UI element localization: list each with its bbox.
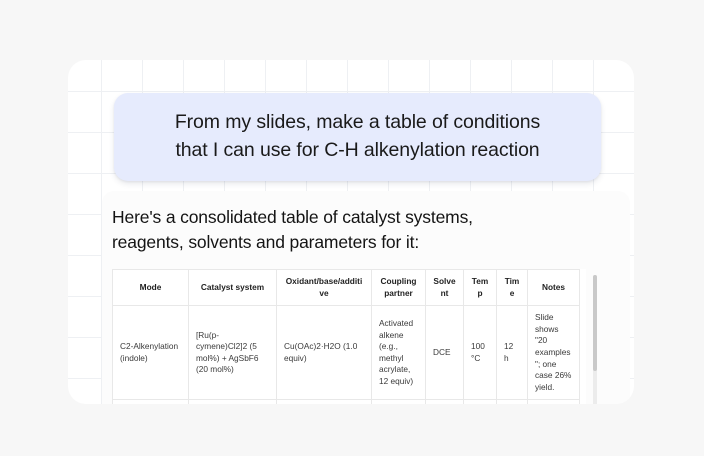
cell-time: 12 h <box>497 400 528 404</box>
cell-solvent: Et2O <box>426 400 464 404</box>
canvas-card: From my slides, make a table of conditio… <box>68 60 634 404</box>
screen: From my slides, make a table of conditio… <box>0 0 704 456</box>
table-header-oxidant: Oxidant/base/additive <box>277 270 372 306</box>
assistant-heading-line-1: Here's a consolidated table of catalyst … <box>112 205 622 230</box>
table-scrollbar-track[interactable] <box>593 275 597 404</box>
conditions-table: Mode Catalyst system Oxidant/base/additi… <box>112 269 580 404</box>
cell-catalyst: MnBr(CO)5 (10 <box>189 400 277 404</box>
cell-time: 12 h <box>497 306 528 400</box>
assistant-heading-line-2: reagents, solvents and parameters for it… <box>112 230 622 255</box>
table-row: C2-Alkenylation (indole) [Ru(p-cymene)Cl… <box>113 306 580 400</box>
cell-temp: 100 °C <box>464 306 497 400</box>
cell-catalyst: [Ru(p-cymene)Cl2]2 (5 mol%) + AgSbF6 (20… <box>189 306 277 400</box>
table-scrollbar-thumb[interactable] <box>593 275 597 371</box>
cell-partner: Propargyl carbonate <box>372 400 426 404</box>
user-message-bubble: From my slides, make a table of conditio… <box>114 93 601 181</box>
table-header-notes: Notes <box>528 270 580 306</box>
cell-mode: Mn-catalyzed C-H alkenylation via <box>113 400 189 404</box>
cell-oxidant: Cu(OAc)2·H2O (1.0 equiv) <box>277 306 372 400</box>
table-header-catalyst: Catalyst system <box>189 270 277 306</box>
table-header-time: Time <box>497 270 528 306</box>
cell-temp: 90 °C <box>464 400 497 404</box>
cell-mode: C2-Alkenylation (indole) <box>113 306 189 400</box>
table-header-row: Mode Catalyst system Oxidant/base/additi… <box>113 270 580 306</box>
table-row: Mn-catalyzed C-H alkenylation via MnBr(C… <box>113 400 580 404</box>
table-scroll-container[interactable]: Mode Catalyst system Oxidant/base/additi… <box>112 269 586 404</box>
assistant-response-card: Here's a consolidated table of catalyst … <box>102 191 630 404</box>
cell-notes: Under Ar; Glorius 2017 <box>528 400 580 404</box>
cell-solvent: DCE <box>426 306 464 400</box>
cell-oxidant: NaOAc (20 mol%) <box>277 400 372 404</box>
user-message-line-2: that I can use for C-H alkenylation reac… <box>136 136 579 164</box>
cell-notes: Slide shows "20 examples"; one case 26% … <box>528 306 580 400</box>
table-header-mode: Mode <box>113 270 189 306</box>
assistant-heading: Here's a consolidated table of catalyst … <box>102 205 630 255</box>
table-header-temp: Temp <box>464 270 497 306</box>
table-header-solvent: Solvent <box>426 270 464 306</box>
cell-partner: Activated alkene (e.g., methyl acrylate,… <box>372 306 426 400</box>
table-header-partner: Coupling partner <box>372 270 426 306</box>
user-message-line-1: From my slides, make a table of conditio… <box>136 108 579 136</box>
